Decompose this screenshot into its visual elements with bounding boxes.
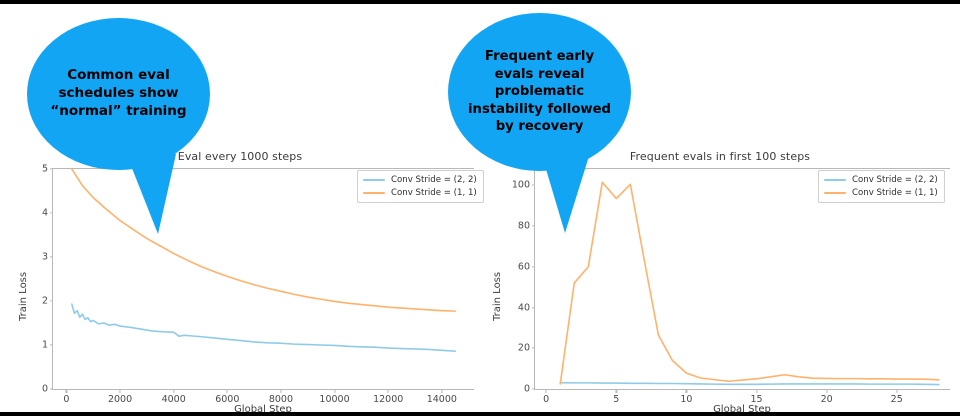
y-tick-mark: [50, 212, 54, 213]
x-tick-mark: [173, 389, 174, 393]
x-tick-mark: [441, 389, 442, 393]
x-tick-mark: [66, 389, 67, 393]
legend-swatch-blue-left: [363, 179, 385, 182]
x-tick-label: 4000: [162, 394, 186, 405]
x-tick-mark: [119, 389, 120, 393]
x-tick-label: 12000: [373, 394, 403, 405]
callout-bubble-frequent-evals: Frequent early evals reveal problematic …: [448, 13, 631, 171]
screenshot-page: Eval every 1000 steps Train Loss Global …: [0, 0, 960, 416]
y-tick-label: 0: [524, 384, 530, 395]
x-tick-mark: [616, 389, 617, 393]
x-tick-mark: [756, 389, 757, 393]
legend-swatch-blue-right: [824, 179, 846, 182]
x-tick-label: 5: [613, 394, 619, 405]
legend-row-blue-left: Conv Stride = (2, 2): [363, 175, 477, 185]
y-tick-label: 3: [42, 252, 48, 263]
y-tick-mark: [532, 266, 536, 267]
legend-label-blue-left: Conv Stride = (2, 2): [391, 175, 477, 185]
x-tick-mark: [896, 389, 897, 393]
legend-label-blue-right: Conv Stride = (2, 2): [852, 175, 938, 185]
legend-right: Conv Stride = (2, 2) Conv Stride = (1, 1…: [818, 170, 945, 203]
legend-row-orange-right: Conv Stride = (1, 1): [824, 188, 938, 198]
x-tick-mark: [388, 389, 389, 393]
y-tick-label: 20: [518, 343, 530, 354]
legend-left: Conv Stride = (2, 2) Conv Stride = (1, 1…: [357, 170, 484, 203]
x-tick-label: 2000: [108, 394, 132, 405]
x-tick-mark: [546, 389, 547, 393]
x-tick-label: 0: [543, 394, 549, 405]
y-axis-label-right: Train Loss: [492, 272, 503, 321]
x-tick-label: 8000: [269, 394, 293, 405]
y-tick-mark: [50, 300, 54, 301]
y-tick-label: 60: [518, 261, 530, 272]
y-tick-label: 100: [512, 180, 530, 191]
legend-row-orange-left: Conv Stride = (1, 1): [363, 188, 477, 198]
x-tick-label: 0: [63, 394, 69, 405]
legend-label-orange-right: Conv Stride = (1, 1): [852, 188, 938, 198]
y-tick-label: 0: [42, 384, 48, 395]
x-tick-mark: [227, 389, 228, 393]
y-tick-mark: [532, 307, 536, 308]
callout-text-1: Common eval schedules show “normal” trai…: [27, 18, 210, 170]
callout-bubble-common-eval: Common eval schedules show “normal” trai…: [27, 18, 210, 170]
legend-swatch-orange-right: [824, 192, 846, 195]
x-tick-mark: [334, 389, 335, 393]
y-tick-mark: [532, 388, 536, 389]
y-tick-label: 1: [42, 340, 48, 351]
series-line: [560, 383, 939, 385]
series-line: [72, 304, 455, 351]
y-tick-mark: [532, 185, 536, 186]
x-tick-label: 15: [750, 394, 762, 405]
x-tick-label: 6000: [215, 394, 239, 405]
y-tick-label: 4: [42, 208, 48, 219]
callout-text-2: Frequent early evals reveal problematic …: [448, 13, 631, 171]
y-axis-label-left: Train Loss: [18, 272, 29, 321]
legend-row-blue-right: Conv Stride = (2, 2): [824, 175, 938, 185]
y-tick-mark: [50, 344, 54, 345]
y-tick-mark: [50, 388, 54, 389]
y-tick-label: 80: [518, 221, 530, 232]
chart-eval-every-1000-steps: Eval every 1000 steps Train Loss Global …: [0, 146, 480, 414]
x-tick-label: 10000: [319, 394, 349, 405]
y-tick-label: 40: [518, 302, 530, 313]
x-tick-mark: [686, 389, 687, 393]
legend-label-orange-left: Conv Stride = (1, 1): [391, 188, 477, 198]
y-tick-mark: [532, 225, 536, 226]
x-tick-label: 20: [821, 394, 833, 405]
y-tick-mark: [532, 348, 536, 349]
x-axis-label-left: Global Step: [52, 404, 474, 415]
x-tick-label: 25: [891, 394, 903, 405]
y-tick-label: 2: [42, 296, 48, 307]
legend-swatch-orange-left: [363, 192, 385, 195]
series-line: [560, 182, 939, 384]
x-tick-mark: [826, 389, 827, 393]
x-tick-label: 14000: [427, 394, 457, 405]
y-tick-mark: [50, 256, 54, 257]
x-tick-mark: [280, 389, 281, 393]
x-tick-label: 10: [680, 394, 692, 405]
x-axis-label-right: Global Step: [534, 404, 950, 415]
